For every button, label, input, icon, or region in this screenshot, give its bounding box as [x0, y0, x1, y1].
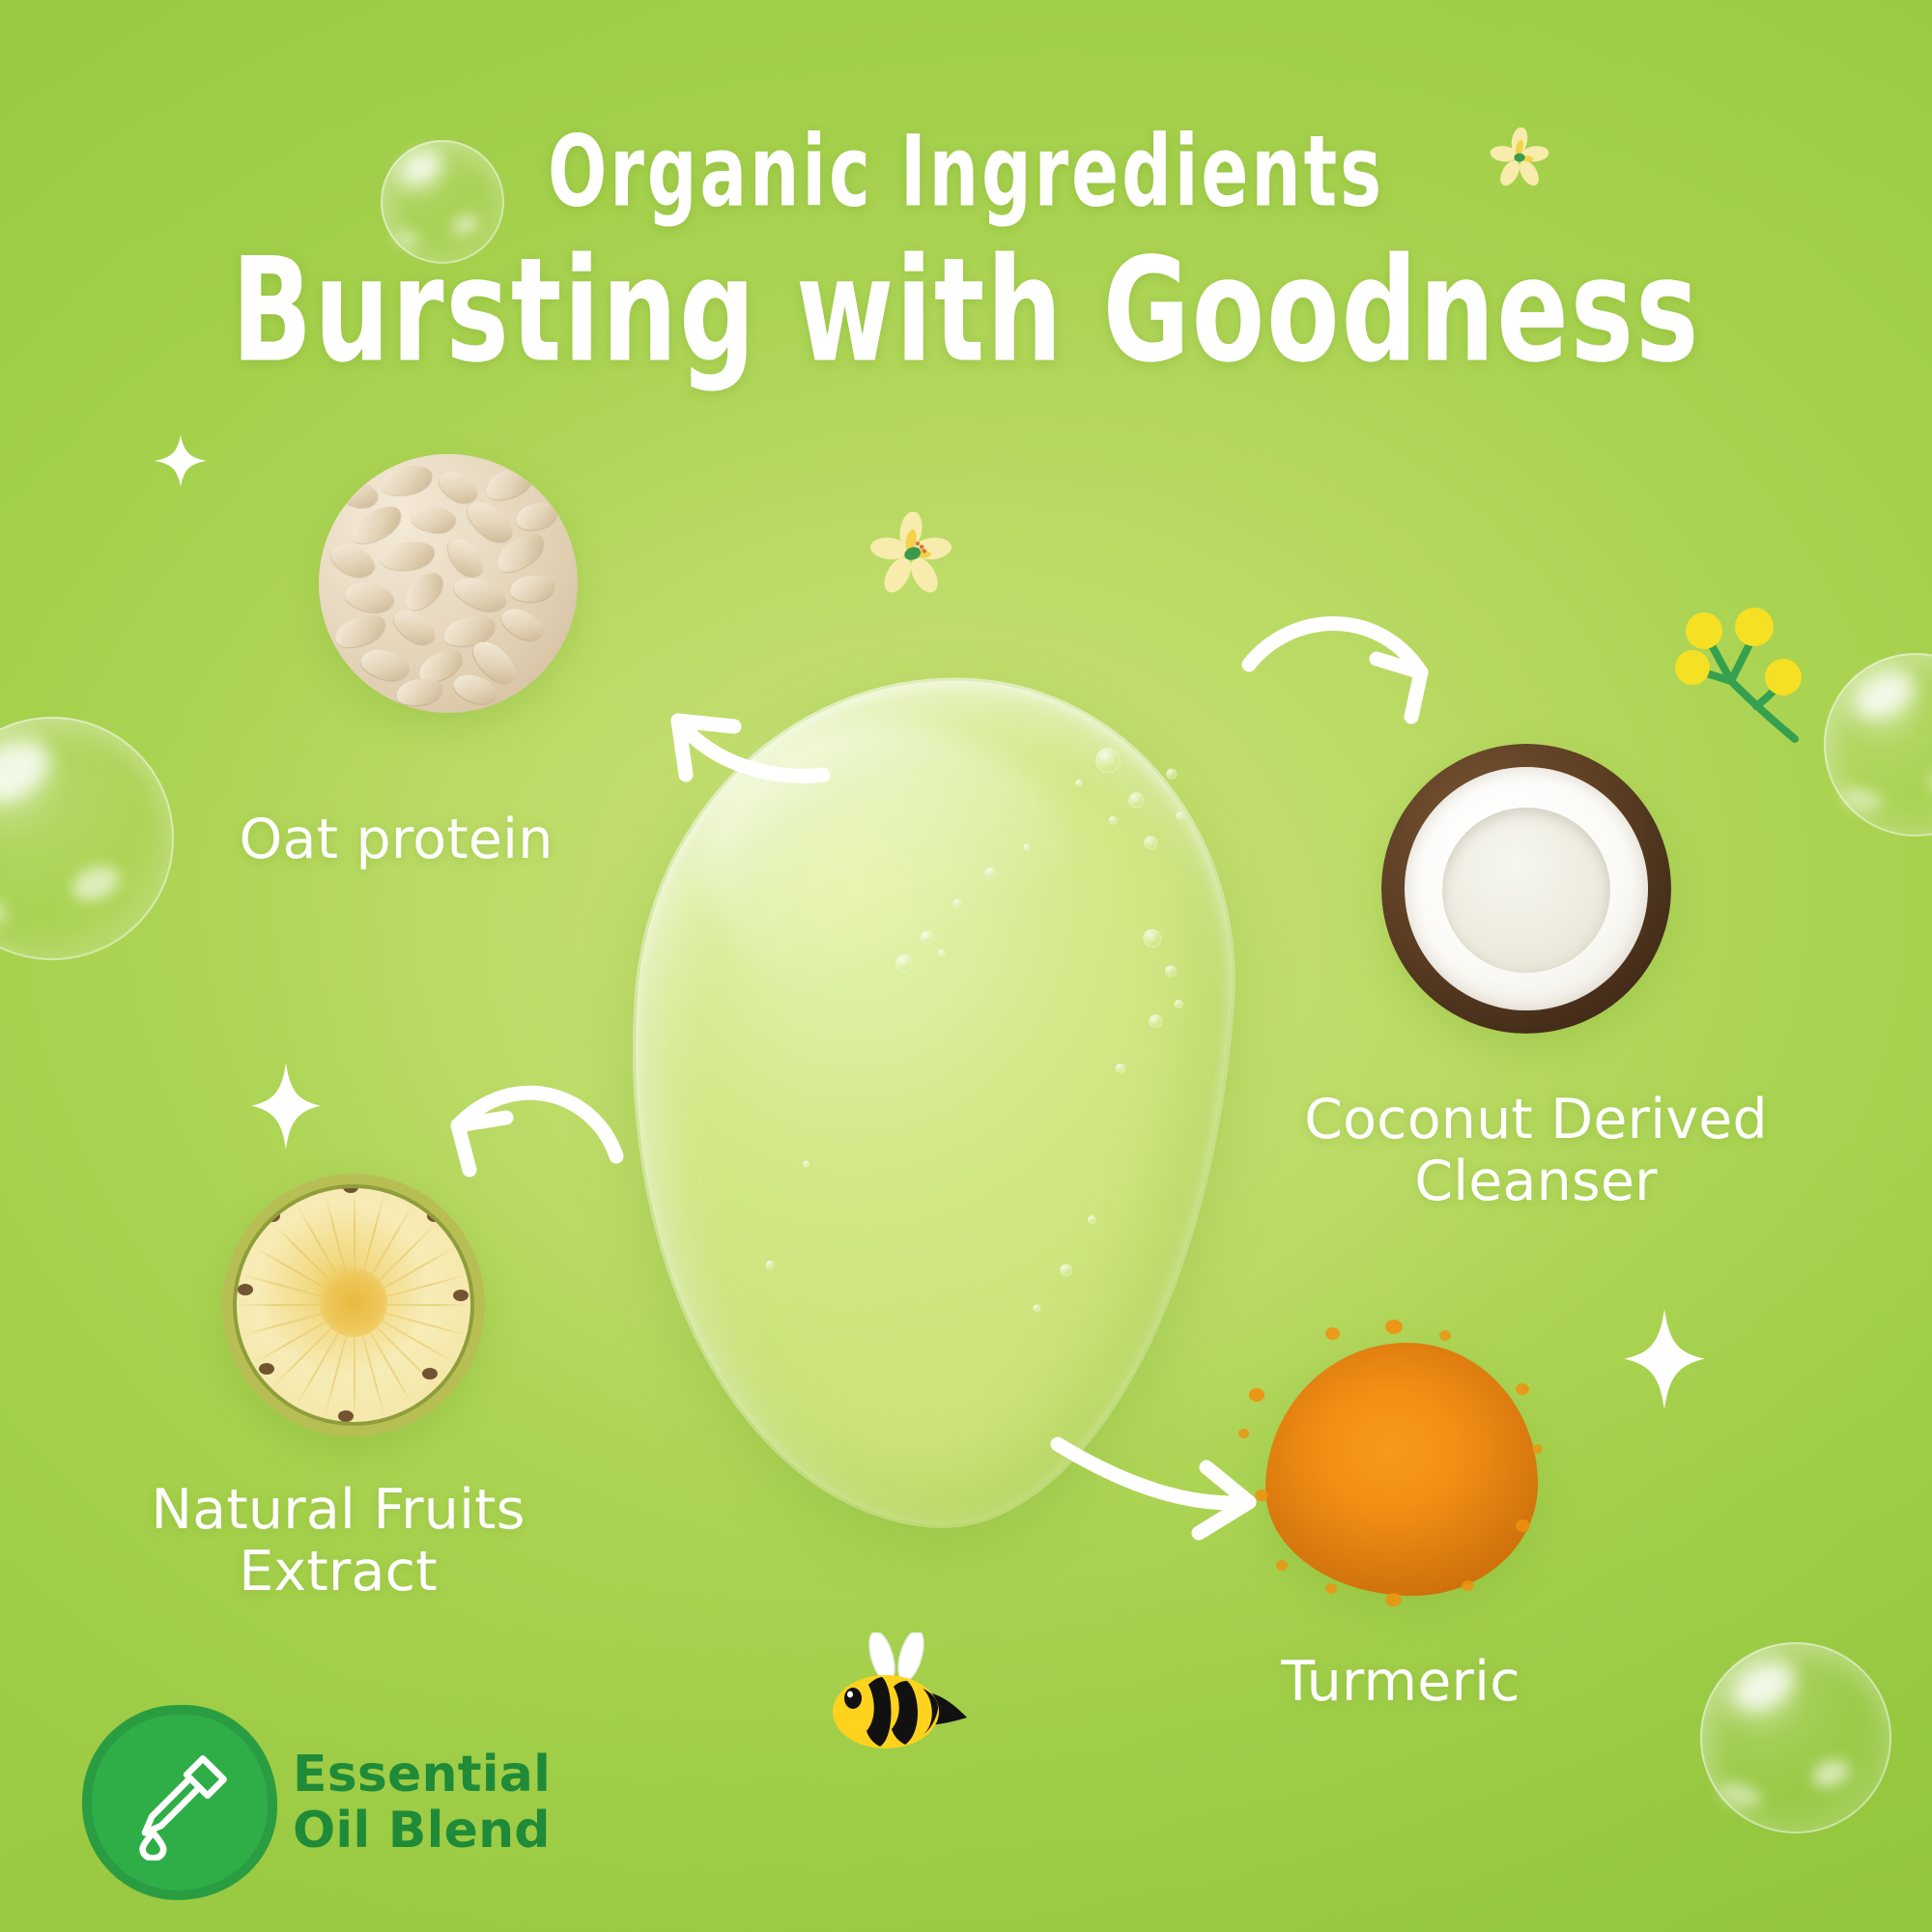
headline-line-1: Organic Ingredients	[10, 124, 1922, 222]
bubble-highlight	[68, 860, 125, 907]
bubble-bottom-right	[1700, 1642, 1891, 1833]
bubble-highlight	[1807, 1754, 1852, 1792]
arrow-to-natural-fruits-extract	[406, 1058, 657, 1241]
badge-label: Essential Oil Blend	[293, 1747, 551, 1859]
sparkle-mid-left-icon	[251, 1063, 321, 1150]
badge-disc	[92, 1715, 268, 1890]
yellow-bud-sprig-icon	[1648, 594, 1832, 760]
headline-line-2: Bursting with Goodness	[0, 239, 1932, 383]
bubble-highlight	[1718, 1779, 1764, 1810]
bubble-highlight	[1840, 784, 1885, 813]
coconut-milk	[1442, 808, 1610, 973]
arrow-to-coconut	[1232, 599, 1483, 792]
dropper-icon	[122, 1745, 238, 1861]
flower-center-top-icon	[869, 512, 952, 595]
sparkle-right-icon	[1623, 1309, 1706, 1409]
essential-oil-blend-badge: Essential Oil Blend	[92, 1715, 551, 1890]
bubble-highlight	[1724, 1652, 1802, 1719]
bubble-highlight	[0, 729, 60, 815]
ingredient-label-coconut-derived-cleanser: Coconut Derived Cleanser	[1246, 1090, 1826, 1213]
ingredients-poster: Organic Ingredients Bursting with Goodne…	[0, 0, 1932, 1932]
bubble-highlight	[0, 891, 11, 929]
bubble-highlight	[1927, 761, 1932, 797]
page-title: Organic Ingredients Bursting with Goodne…	[0, 124, 1932, 356]
ingredient-label-natural-fruits-extract: Natural Fruits Extract	[39, 1480, 638, 1604]
bubble-right	[1824, 653, 1932, 837]
ingredient-label-turmeric: Turmeric	[1130, 1652, 1671, 1714]
arrow-to-turmeric	[1038, 1425, 1309, 1589]
bubble-highlight	[1847, 663, 1921, 727]
ingredient-label-oat-protein: Oat protein	[126, 810, 667, 871]
bee-icon	[826, 1633, 980, 1777]
sparkle-top-left-icon	[155, 435, 207, 487]
oat-protein-image	[319, 454, 578, 713]
